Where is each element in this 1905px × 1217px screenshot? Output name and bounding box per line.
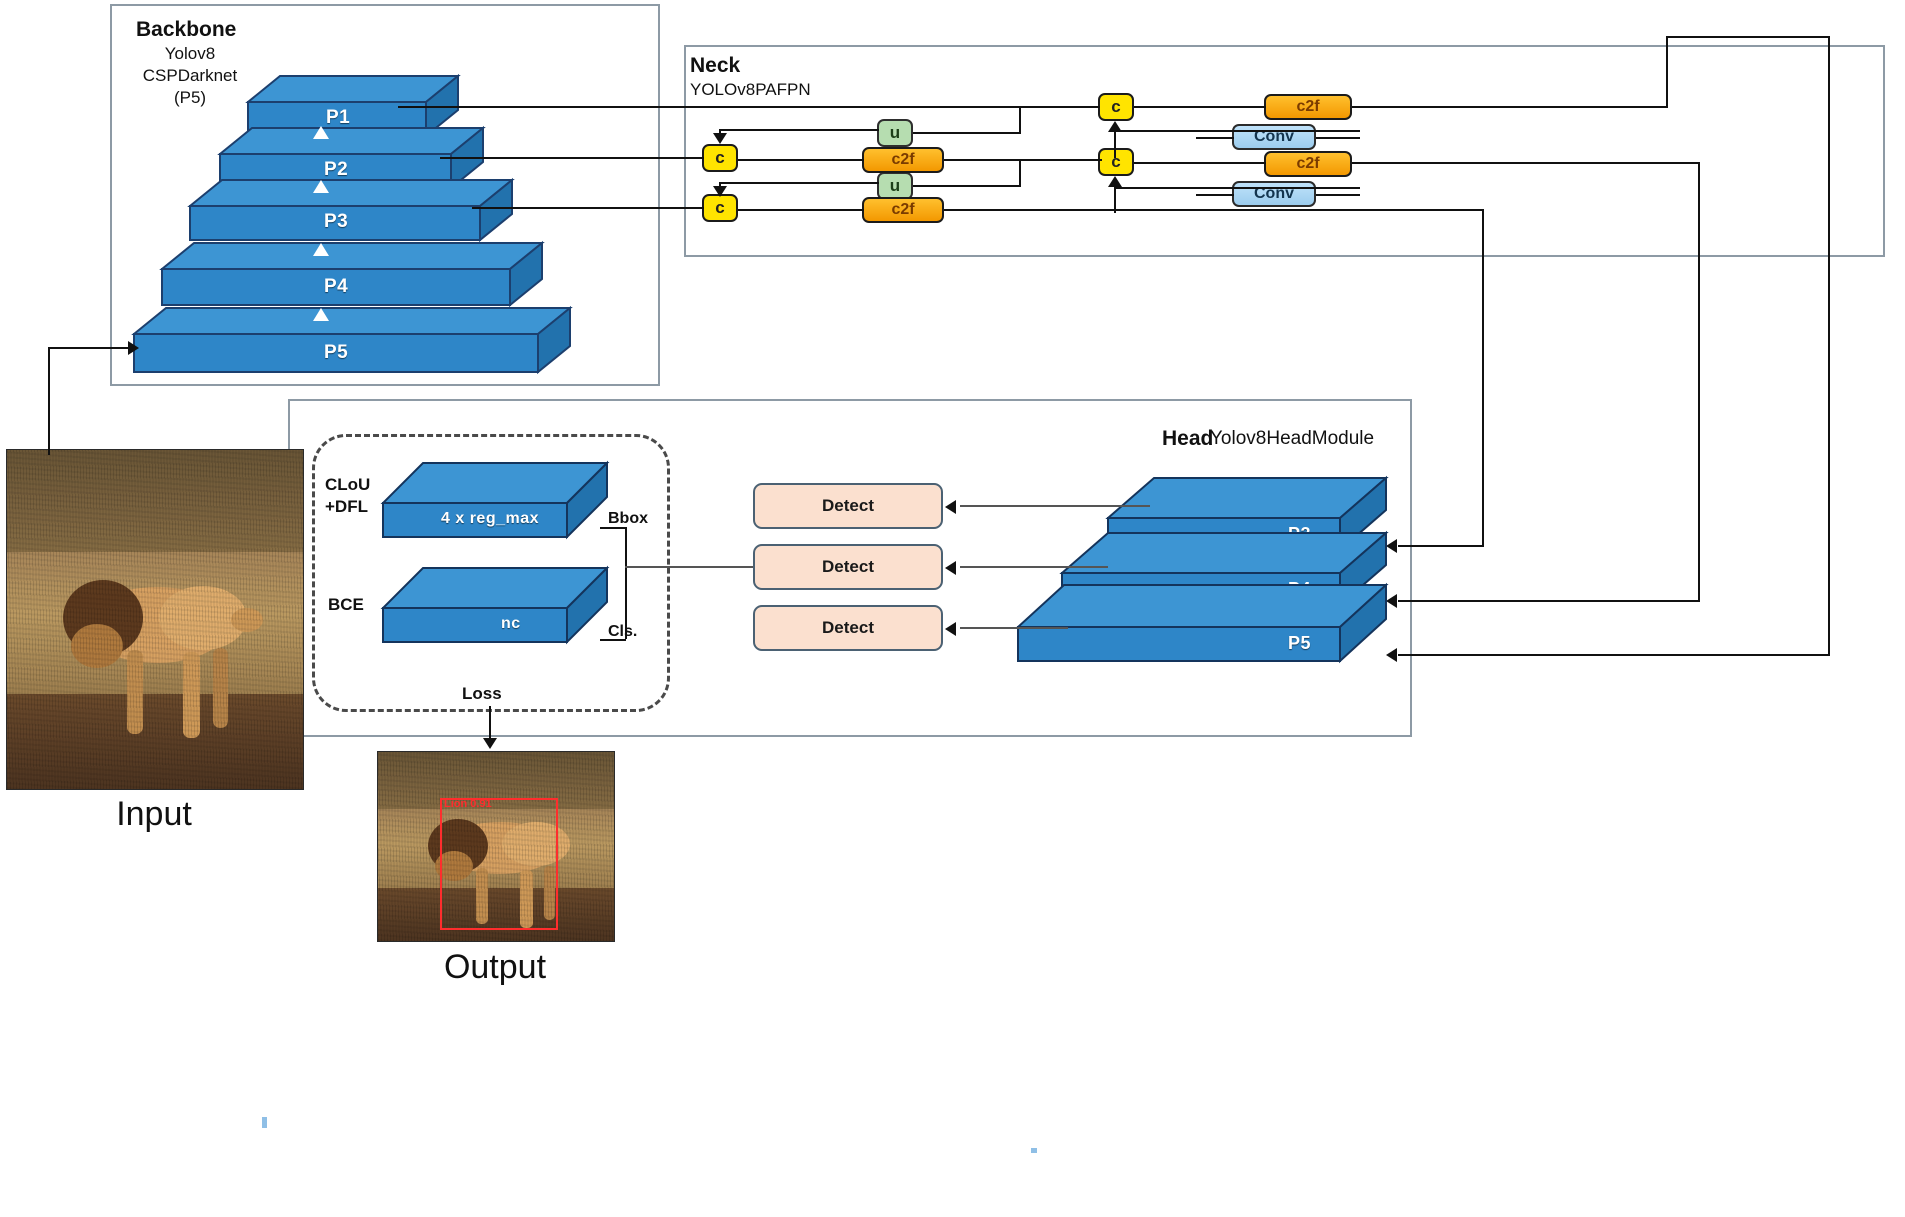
arrow-head-p5-in	[1386, 648, 1397, 662]
neck-concat-upper-right[interactable]: c	[1098, 93, 1134, 121]
detect-block-1[interactable]: Detect	[753, 483, 943, 529]
wire-head-route-low-down	[1482, 209, 1484, 546]
input-image-texture	[7, 450, 303, 789]
arrow-into-concat-lower-right	[1108, 176, 1122, 187]
wire-u-lower-out	[719, 182, 879, 184]
wire-input-riser	[48, 347, 50, 455]
loss-branch-1-output-label: Bbox	[608, 510, 648, 528]
backbone-slab-p1-label: P1	[326, 107, 350, 129]
arrow-detect2-in	[945, 561, 956, 575]
backbone-subtitle-1: Yolov8	[134, 44, 246, 64]
backbone-slab-p2-label: P2	[324, 159, 348, 181]
neck-conv-lower[interactable]: Conv	[1232, 181, 1316, 207]
backbone-flow-arrow-p4-p3	[313, 243, 329, 256]
wire-conv-upper-in	[1196, 137, 1234, 139]
detect-block-2[interactable]: Detect	[753, 544, 943, 590]
wire-p5-to-detect3	[960, 627, 1068, 629]
head-title: Head	[1162, 427, 1213, 451]
wire-head-route-mid-down	[1698, 162, 1700, 602]
neck-concat-lower-right[interactable]: c	[1098, 148, 1134, 176]
output-image: Lion 0.91	[377, 751, 615, 942]
wire-head-route-top-down	[1828, 36, 1830, 656]
backbone-title: Backbone	[136, 18, 236, 42]
loss-branch-1-line2: +DFL	[325, 497, 368, 517]
neck-c2f-upper-mid[interactable]: c2f	[862, 147, 944, 173]
neck-upsample-lower[interactable]: u	[877, 172, 913, 200]
neck-upsample-upper-label: u	[890, 123, 900, 143]
wire-concat-upper-right-to-c2f	[1134, 106, 1266, 108]
neck-c2f-lower-mid-label: c2f	[891, 201, 914, 219]
backbone-subtitle-2: CSPDarknet	[126, 66, 254, 86]
wire-p2-to-concat-upper-left	[440, 157, 704, 159]
input-caption: Input	[6, 795, 302, 834]
neck-upsample-lower-label: u	[890, 176, 900, 196]
backbone-slab-p4: P4	[162, 243, 542, 313]
head-slab-p5: P5	[1018, 585, 1386, 675]
wire-head-route-top	[1666, 36, 1830, 38]
wire-concat-lower-to-c2f	[738, 209, 864, 211]
wire-neck-top-riser	[1666, 36, 1668, 108]
wire-p1-to-concat-upper	[398, 106, 1100, 108]
wire-c2f-lower-out	[944, 209, 1484, 211]
neck-title: Neck	[690, 54, 740, 78]
wire-p3-to-detect1	[960, 505, 1150, 507]
loss-slab-nc: nc	[383, 568, 607, 656]
wire-loss-bbox-down	[625, 527, 627, 567]
detect-block-3-label: Detect	[822, 618, 874, 638]
wire-u-upper-out	[719, 129, 879, 131]
arrow-head-p3-in	[1386, 539, 1397, 553]
wire-head-route-top-in	[1398, 654, 1830, 656]
arrow-into-concat-upper-left	[713, 133, 727, 144]
arrow-backbone-in	[128, 341, 139, 355]
output-caption: Output	[377, 948, 613, 987]
neck-c2f-lower-right[interactable]: c2f	[1264, 151, 1352, 177]
neck-concat-upper-left[interactable]: c	[702, 144, 738, 172]
diagram-canvas: Backbone Yolov8 CSPDarknet (P5) P1 P2 P3	[0, 0, 1905, 1217]
wire-p4-to-detect2	[960, 566, 1108, 568]
neck-upsample-upper[interactable]: u	[877, 119, 913, 147]
wire-loss-cls-up	[625, 567, 627, 639]
backbone-flow-arrow-p5-p4	[313, 308, 329, 321]
arrow-into-concat-upper-right	[1108, 121, 1122, 132]
neck-c2f-upper-right[interactable]: c2f	[1264, 94, 1352, 120]
neck-c2f-upper-mid-label: c2f	[891, 151, 914, 169]
wire-u-lower-in	[913, 185, 1021, 187]
wire-c2f-upper-out	[944, 159, 1102, 161]
detect-block-1-label: Detect	[822, 496, 874, 516]
loss-branch-2-line1: BCE	[328, 595, 364, 615]
wire-u-upper-in	[913, 132, 1021, 134]
head-slab-p5-label: P5	[1288, 633, 1311, 654]
loss-slab-nc-label: nc	[501, 615, 521, 633]
wire-head-route-mid-in	[1398, 600, 1700, 602]
backbone-slab-p5: P5	[134, 308, 570, 380]
wire-right-upper-riser-h	[1114, 130, 1360, 132]
wire-concat-lower-right-to-c2f	[1134, 162, 1266, 164]
neck-c2f-lower-mid[interactable]: c2f	[862, 197, 944, 223]
wire-conv-lower-out	[1316, 194, 1360, 196]
arrow-detect3-in	[945, 622, 956, 636]
detect-block-2-label: Detect	[822, 557, 874, 577]
detection-label: Lion 0.91	[444, 798, 492, 810]
backbone-slab-p4-label: P4	[324, 276, 348, 298]
wire-c2f-lower-right-out	[1352, 162, 1700, 164]
wire-u-lower-riser	[1019, 160, 1021, 187]
backbone-subtitle-3: (P5)	[134, 88, 246, 108]
arrow-detect1-in	[945, 500, 956, 514]
neck-c2f-lower-right-label: c2f	[1296, 155, 1319, 173]
neck-conv-upper[interactable]: Conv	[1232, 124, 1316, 150]
wire-conv-upper-out	[1316, 137, 1360, 139]
detection-bounding-box: Lion 0.91	[440, 798, 558, 930]
wire-right-lower-riser-h	[1114, 187, 1360, 189]
wire-head-route-low-in	[1398, 545, 1484, 547]
backbone-slab-p5-label: P5	[324, 342, 348, 364]
loss-title: Loss	[462, 684, 502, 704]
neck-concat-lower-left-label: c	[715, 198, 724, 218]
wire-bbox-stub	[600, 527, 626, 529]
backbone-flow-arrow-p3-p2	[313, 180, 329, 193]
input-image	[6, 449, 304, 790]
backbone-flow-arrow-p2-p1	[313, 126, 329, 139]
wire-p3-to-concat-lower-left	[472, 207, 704, 209]
neck-concat-lower-right-label: c	[1111, 152, 1120, 172]
wire-input-to-backbone	[48, 347, 134, 349]
neck-concat-upper-right-label: c	[1111, 97, 1120, 117]
loss-slab-regmax: 4 x reg_max	[383, 463, 607, 551]
scan-artifact-left	[262, 1117, 267, 1128]
wire-concat-upper-to-c2f	[738, 159, 864, 161]
neck-concat-upper-left-label: c	[715, 148, 724, 168]
arrow-output-in	[483, 738, 497, 749]
detect-block-3[interactable]: Detect	[753, 605, 943, 651]
arrow-head-p4-in	[1386, 594, 1397, 608]
backbone-slab-p3: P3	[190, 180, 512, 248]
loss-slab-regmax-label: 4 x reg_max	[441, 510, 539, 528]
loss-branch-1-line1: CLoU	[325, 475, 370, 495]
head-subtitle: Yolov8HeadModule	[1210, 428, 1374, 450]
wire-right-upper-riser	[1114, 132, 1116, 158]
wire-right-lower-riser	[1114, 187, 1116, 213]
wire-c2f-upper-right-out	[1352, 106, 1668, 108]
scan-artifact-right	[1031, 1148, 1037, 1153]
wire-cls-stub	[600, 639, 626, 641]
wire-loss-to-detect2	[625, 566, 753, 568]
wire-u-upper-riser	[1019, 106, 1021, 134]
arrow-into-concat-lower-left	[713, 186, 727, 197]
backbone-slab-p3-label: P3	[324, 211, 348, 233]
neck-c2f-upper-right-label: c2f	[1296, 98, 1319, 116]
neck-concat-lower-left[interactable]: c	[702, 194, 738, 222]
neck-subtitle: YOLOv8PAFPN	[690, 80, 811, 100]
wire-conv-lower-in	[1196, 194, 1234, 196]
